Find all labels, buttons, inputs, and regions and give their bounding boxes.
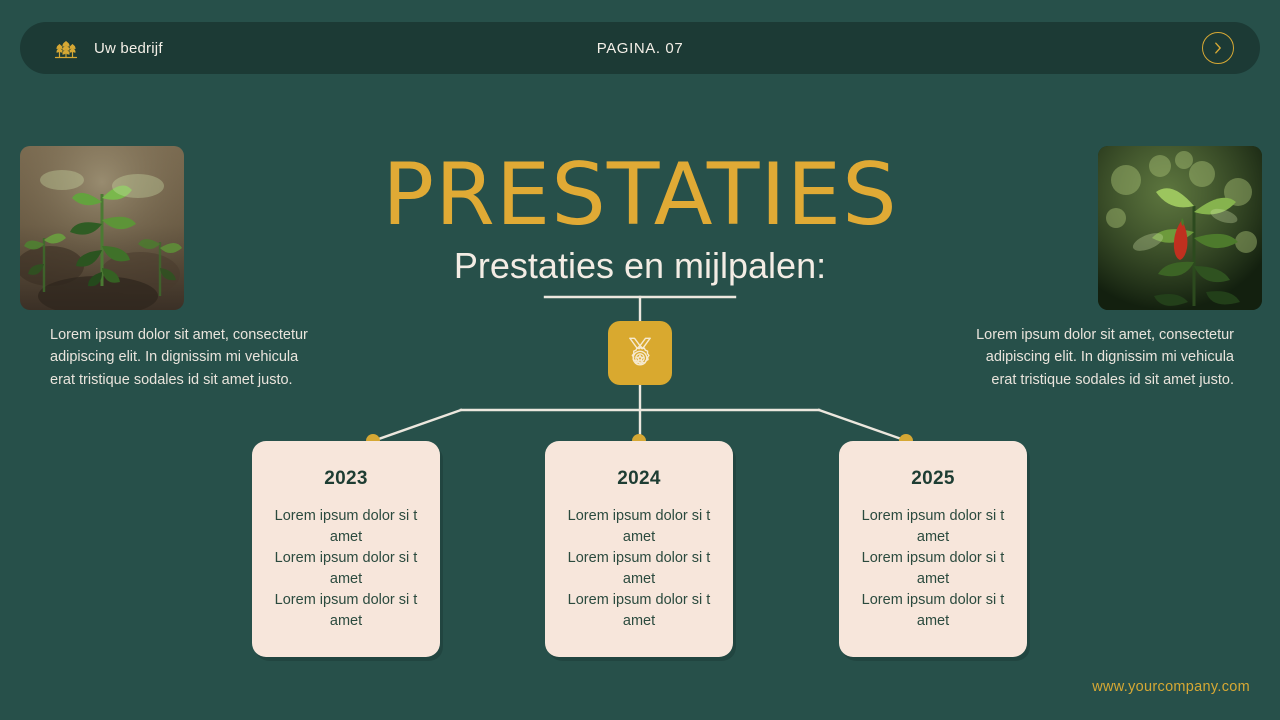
footer-url[interactable]: www.yourcompany.com xyxy=(1092,679,1250,695)
medal-award-icon xyxy=(618,331,662,375)
milestone-card[interactable]: 2025 Lorem ipsum dolor si t amet Lorem i… xyxy=(839,441,1027,657)
milestone-line: Lorem ipsum dolor si t amet xyxy=(849,548,1017,590)
milestone-lines: Lorem ipsum dolor si t amet Lorem ipsum … xyxy=(849,506,1017,632)
medal-badge xyxy=(608,321,672,385)
milestone-lines: Lorem ipsum dolor si t amet Lorem ipsum … xyxy=(555,506,723,632)
next-slide-button[interactable] xyxy=(1202,32,1234,64)
milestone-lines: Lorem ipsum dolor si t amet Lorem ipsum … xyxy=(262,506,430,632)
milestone-year: 2024 xyxy=(555,468,723,490)
left-description: Lorem ipsum dolor sit amet, consectetur … xyxy=(50,324,318,391)
milestone-line: Lorem ipsum dolor si t amet xyxy=(555,590,723,632)
milestone-card[interactable]: 2023 Lorem ipsum dolor si t amet Lorem i… xyxy=(252,441,440,657)
milestone-line: Lorem ipsum dolor si t amet xyxy=(555,548,723,590)
page-label: PAGINA. 07 xyxy=(20,40,1260,57)
milestone-line: Lorem ipsum dolor si t amet xyxy=(262,548,430,590)
chevron-right-icon xyxy=(1211,41,1225,55)
milestone-line: Lorem ipsum dolor si t amet xyxy=(849,590,1017,632)
milestone-year: 2025 xyxy=(849,468,1017,490)
milestone-year: 2023 xyxy=(262,468,430,490)
milestone-line: Lorem ipsum dolor si t amet xyxy=(555,506,723,548)
milestone-line: Lorem ipsum dolor si t amet xyxy=(262,590,430,632)
page-subtitle: Prestaties en mijlpalen: xyxy=(0,248,1280,284)
milestone-line: Lorem ipsum dolor si t amet xyxy=(262,506,430,548)
header-bar: Uw bedrijf PAGINA. 07 xyxy=(20,22,1260,74)
right-description: Lorem ipsum dolor sit amet, consectetur … xyxy=(966,324,1234,391)
milestone-card[interactable]: 2024 Lorem ipsum dolor si t amet Lorem i… xyxy=(545,441,733,657)
page-title: PRESTATIES xyxy=(0,152,1280,238)
slide-root: Uw bedrijf PAGINA. 07 xyxy=(0,0,1280,720)
milestone-line: Lorem ipsum dolor si t amet xyxy=(849,506,1017,548)
